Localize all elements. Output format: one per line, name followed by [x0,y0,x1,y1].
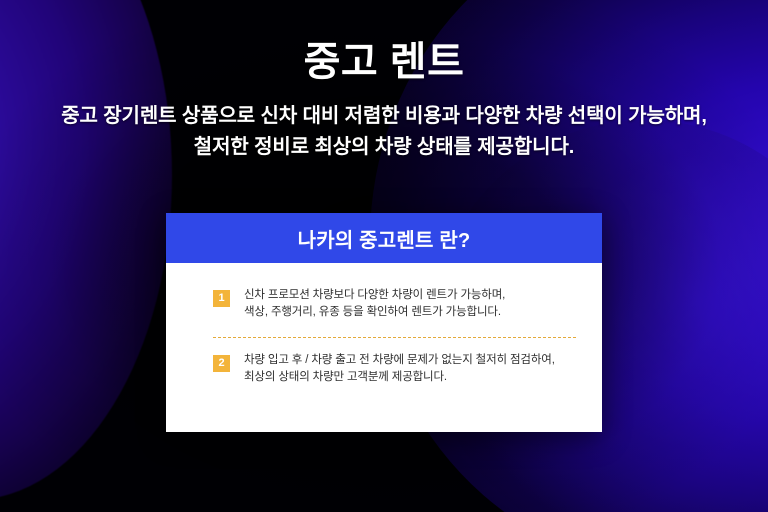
page-root: 중고 렌트 중고 장기렌트 상품으로 신차 대비 저렴한 비용과 다양한 차량 … [0,0,768,512]
list-item-number-badge: 2 [213,355,230,372]
page-subtitle-line-2: 철저한 정비로 최상의 차량 상태를 제공합니다. [0,132,768,163]
page-title: 중고 렌트 [0,0,768,87]
list-item-text: 신차 프로모션 차량보다 다양한 차량이 렌트가 가능하며, 색상, 주행거리,… [244,287,505,321]
list-item: 2 차량 입고 후 / 차량 출고 전 차량에 문제가 없는지 철저히 점검하여… [213,352,576,386]
list-item-text-line-2: 색상, 주행거리, 유종 등을 확인하여 렌트가 가능합니다. [244,304,505,321]
info-card-body: 1 신차 프로모션 차량보다 다양한 차량이 렌트가 가능하며, 색상, 주행거… [166,263,602,432]
page-subtitle-line-1: 중고 장기렌트 상품으로 신차 대비 저렴한 비용과 다양한 차량 선택이 가능… [0,101,768,132]
list-item-text-line-2: 최상의 상태의 차량만 고객분께 제공합니다. [244,369,555,386]
list-item-text-line-1: 차량 입고 후 / 차량 출고 전 차량에 문제가 없는지 철저히 점검하여, [244,352,555,369]
hero-section: 중고 렌트 중고 장기렌트 상품으로 신차 대비 저렴한 비용과 다양한 차량 … [0,0,768,163]
list-item-text: 차량 입고 후 / 차량 출고 전 차량에 문제가 없는지 철저히 점검하여, … [244,352,555,386]
page-subtitle: 중고 장기렌트 상품으로 신차 대비 저렴한 비용과 다양한 차량 선택이 가능… [0,87,768,163]
list-divider [213,337,576,338]
info-card-header: 나카의 중고렌트 란? [166,213,602,263]
list-item-number-badge: 1 [213,290,230,307]
info-card-header-title: 나카의 중고렌트 란? [298,224,471,253]
info-card: 나카의 중고렌트 란? 1 신차 프로모션 차량보다 다양한 차량이 렌트가 가… [166,213,602,432]
list-item: 1 신차 프로모션 차량보다 다양한 차량이 렌트가 가능하며, 색상, 주행거… [213,287,576,321]
list-item-text-line-1: 신차 프로모션 차량보다 다양한 차량이 렌트가 가능하며, [244,287,505,304]
